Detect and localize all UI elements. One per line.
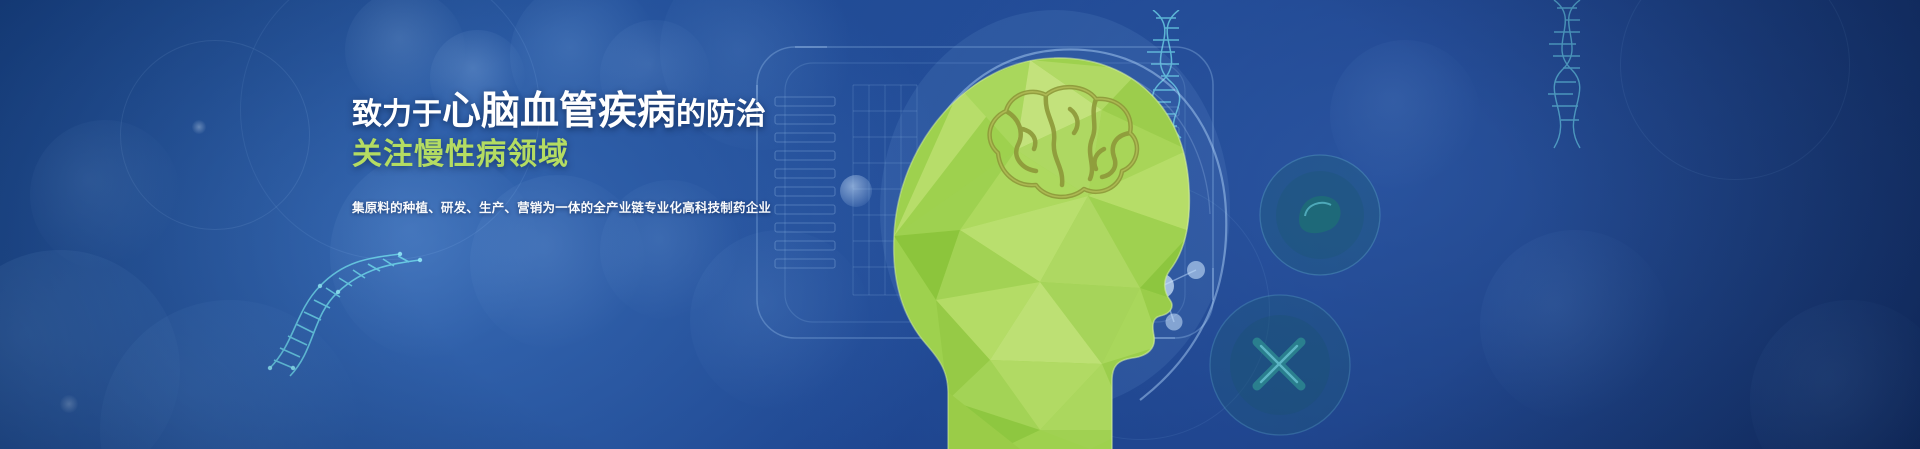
dna-helix-icon xyxy=(1135,10,1205,140)
dna-helix-icon xyxy=(1540,0,1600,150)
cell-icon xyxy=(1255,150,1385,280)
bokeh-circle xyxy=(690,230,870,410)
dna-helix-icon xyxy=(260,250,440,380)
bokeh-circle xyxy=(100,300,360,449)
brain-icon xyxy=(970,75,1160,215)
bokeh-ring xyxy=(1620,0,1850,180)
headline-emphasis: 心脑血管疾病 xyxy=(442,90,676,133)
head-polygons xyxy=(840,0,1320,449)
head-glow xyxy=(840,0,1320,449)
low-poly-human-head-profile xyxy=(840,0,1320,449)
hero-subtitle: 集原料的种植、研发、生产、营销为一体的全产业链专业化高科技制药企业 xyxy=(352,197,782,216)
hero-banner: 致力于心脑血管疾病的防治 关注慢性病领域 集原料的种植、研发、生产、营销为一体的… xyxy=(0,0,1920,449)
vignette-overlay xyxy=(0,0,1920,449)
bokeh-circle xyxy=(30,120,180,270)
headline-prefix: 致力于 xyxy=(352,98,442,131)
bokeh-circle xyxy=(0,250,180,449)
bokeh-ring xyxy=(1010,180,1270,440)
hero-copy: 致力于心脑血管疾病的防治 关注慢性病领域 集原料的种植、研发、生产、营销为一体的… xyxy=(352,92,782,216)
bokeh-ring xyxy=(120,40,310,230)
bokeh-circle xyxy=(1330,40,1480,190)
bokeh-dot xyxy=(840,175,872,207)
cell-icon xyxy=(1205,290,1355,440)
bokeh-circle xyxy=(1750,300,1920,449)
bokeh-dot xyxy=(1138,262,1164,288)
bokeh-dot xyxy=(192,120,206,134)
hud-frame-graphic xyxy=(755,45,1215,340)
headline-primary: 致力于心脑血管疾病的防治 xyxy=(352,92,782,131)
bokeh-dot xyxy=(60,395,78,413)
headline-secondary: 关注慢性病领域 xyxy=(352,140,782,170)
headline-suffix: 的防治 xyxy=(676,98,766,131)
molecule-icon xyxy=(1100,230,1220,350)
bokeh-circle xyxy=(1480,230,1670,420)
